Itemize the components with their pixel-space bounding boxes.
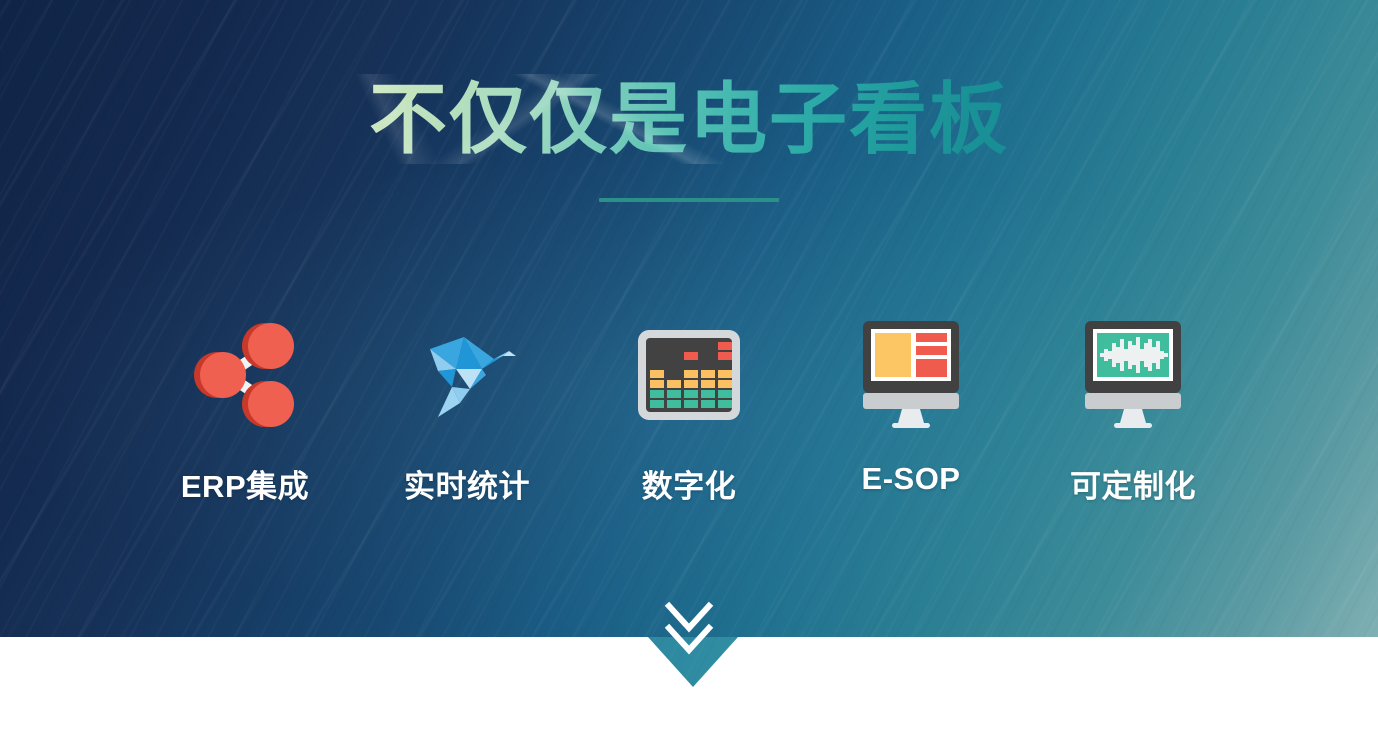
feature-icon-box: [860, 312, 962, 437]
hero-page: 不仅仅是电子看板: [0, 0, 1378, 751]
feature-item-erp[interactable]: ERP集成: [134, 312, 356, 506]
feature-icon-box: [637, 312, 741, 437]
feature-icon-box: [1082, 312, 1184, 437]
feature-label-realtime-stats: 实时统计: [404, 461, 530, 506]
hero-title: 不仅仅是电子看板: [369, 74, 1009, 164]
feature-label-customizable: 可定制化: [1070, 461, 1196, 506]
feature-icon-box: [408, 312, 526, 437]
feature-label-erp: ERP集成: [181, 461, 309, 506]
origami-bird-icon: [408, 325, 526, 425]
feature-item-digitalization[interactable]: 数字化: [578, 312, 800, 506]
monitor-layout-icon: [860, 319, 962, 431]
feature-item-realtime-stats[interactable]: 实时统计: [356, 312, 578, 506]
feature-item-customizable[interactable]: 可定制化: [1022, 312, 1244, 506]
hero-title-wrapper: 不仅仅是电子看板: [0, 74, 1378, 164]
feature-label-esop: E-SOP: [862, 461, 961, 497]
equalizer-board-icon: [637, 327, 741, 423]
feature-label-digitalization: 数字化: [642, 461, 737, 506]
hero-banner: 不仅仅是电子看板: [0, 0, 1378, 637]
feature-item-esop[interactable]: E-SOP: [800, 312, 1022, 497]
feature-list: ERP集成: [0, 312, 1378, 532]
share-network-icon: [191, 320, 299, 430]
title-divider: [599, 198, 779, 202]
monitor-waveform-icon: [1082, 319, 1184, 431]
feature-icon-box: [191, 312, 299, 437]
